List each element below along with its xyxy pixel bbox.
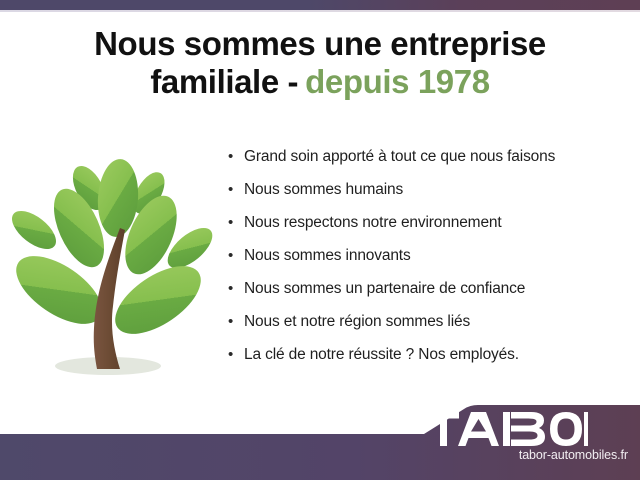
- bullet-icon: •: [228, 314, 244, 329]
- page-title: Nous sommes une entreprise familiale -de…: [0, 25, 640, 102]
- tree-icon: [8, 150, 220, 390]
- top-accent-hairline: [0, 10, 640, 12]
- page-title-line-1: Nous sommes une entreprise: [0, 25, 640, 63]
- list-item-label: La clé de notre réussite ? Nos employés.: [244, 346, 628, 364]
- list-item-label: Grand soin apporté à tout ce que nous fa…: [244, 148, 628, 166]
- list-item-label: Nous respectons notre environnement: [244, 214, 628, 232]
- list-item-label: Nous et notre région sommes liés: [244, 313, 628, 331]
- top-accent-strip: [0, 0, 640, 10]
- list-item-label: Nous sommes un partenaire de confiance: [244, 280, 628, 298]
- list-item: • Nous sommes un partenaire de confiance: [228, 280, 628, 313]
- list-item: • Nous respectons notre environnement: [228, 214, 628, 247]
- list-item: • Grand soin apporté à tout ce que nous …: [228, 148, 628, 181]
- brand-logo[interactable]: TABOR tabor-automobiles.fr: [428, 412, 628, 462]
- bullet-icon: •: [228, 248, 244, 263]
- bullet-icon: •: [228, 182, 244, 197]
- bullet-icon: •: [228, 347, 244, 362]
- brand-url-text: tabor-automobiles.fr: [428, 448, 628, 462]
- list-item: • La clé de notre réussite ? Nos employé…: [228, 346, 628, 379]
- page-title-accent: depuis 1978: [305, 63, 490, 100]
- page-title-line-2: familiale -depuis 1978: [0, 63, 640, 101]
- page-title-line-2-plain: familiale -: [150, 63, 298, 100]
- tree-illustration: [8, 150, 220, 390]
- list-item: • Nous sommes innovants: [228, 247, 628, 280]
- bullet-icon: •: [228, 281, 244, 296]
- values-list: • Grand soin apporté à tout ce que nous …: [228, 148, 628, 379]
- list-item: • Nous sommes humains: [228, 181, 628, 214]
- bullet-icon: •: [228, 215, 244, 230]
- footer-band: TABOR tabor-automobiles.fr: [0, 400, 640, 480]
- list-item-label: Nous sommes innovants: [244, 247, 628, 265]
- list-item: • Nous et notre région sommes liés: [228, 313, 628, 346]
- bullet-icon: •: [228, 149, 244, 164]
- list-item-label: Nous sommes humains: [244, 181, 628, 199]
- slide-canvas: Nous sommes une entreprise familiale -de…: [0, 0, 640, 480]
- tabor-wordmark-icon: [428, 412, 628, 446]
